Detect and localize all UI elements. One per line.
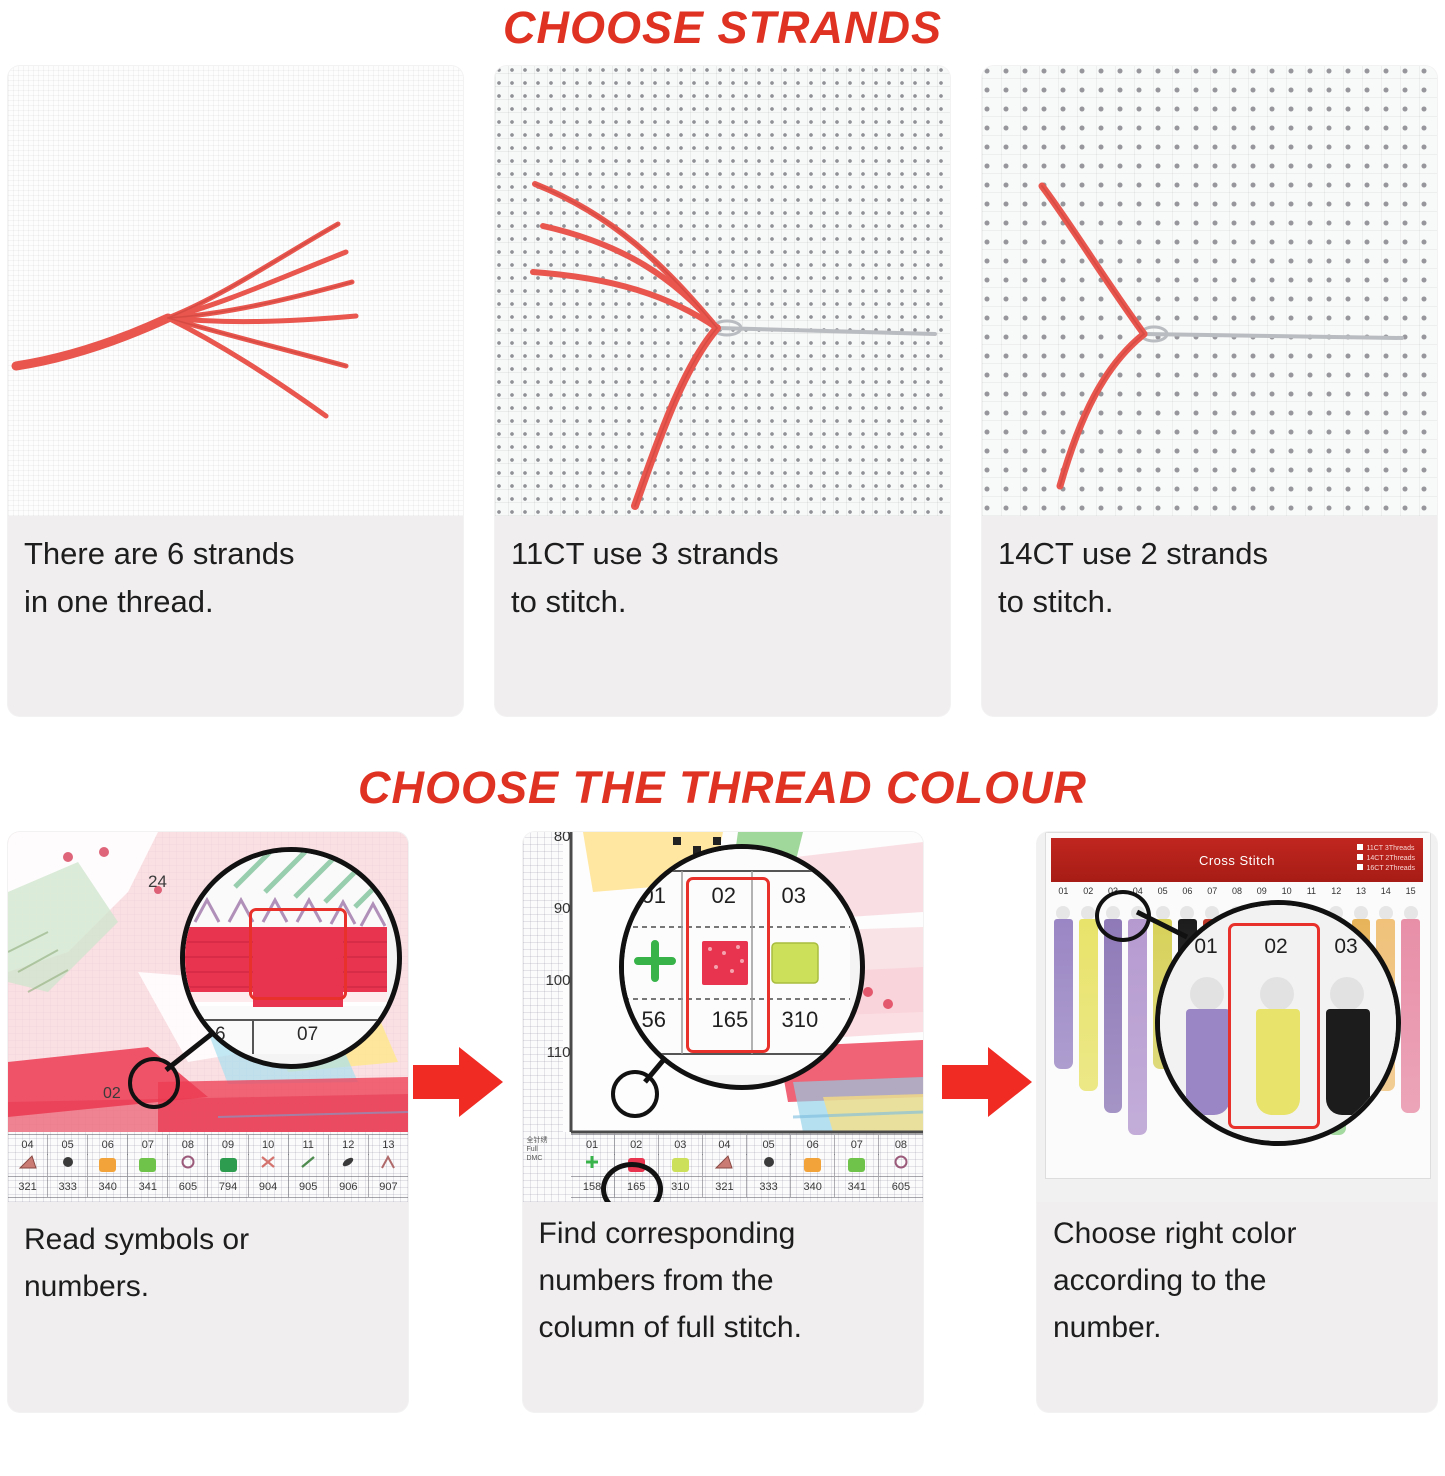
legend-symbol-cell bbox=[249, 1154, 289, 1176]
choose-color-caption: Choose right color according to the numb… bbox=[1037, 1202, 1437, 1361]
legend-dmc-number: 310 bbox=[659, 1177, 703, 1197]
11ct-needle-thread-illustration bbox=[495, 66, 950, 516]
legend-symbol-cell bbox=[88, 1154, 128, 1176]
caption-line: according to the bbox=[1053, 1257, 1421, 1304]
legend-symbol-cell bbox=[8, 1154, 48, 1176]
legend-column-index: 07 bbox=[835, 1135, 879, 1155]
legend-dmc-number: 340 bbox=[791, 1177, 835, 1197]
panel-read-symbols: 24 02 bbox=[8, 832, 408, 1412]
legend-dmc-number: 906 bbox=[329, 1177, 369, 1197]
caption-line: Choose right color bbox=[1053, 1210, 1421, 1257]
legend-symbol-cell bbox=[329, 1154, 369, 1176]
legend-symbol-cell bbox=[703, 1154, 747, 1176]
legend-dmc-number: 340 bbox=[88, 1177, 128, 1197]
legend-column-index: 04 bbox=[8, 1135, 48, 1155]
magnified-skein[interactable] bbox=[1326, 1009, 1370, 1115]
legend-symbol-cell bbox=[48, 1154, 88, 1176]
legend-column-index: 05 bbox=[48, 1135, 88, 1155]
legend-symbol-cell bbox=[369, 1154, 408, 1176]
caption-line: to stitch. bbox=[998, 578, 1421, 626]
read-symbols-caption: Read symbols or numbers. bbox=[8, 1202, 408, 1320]
caption-line: Read symbols or bbox=[24, 1216, 392, 1263]
magnified-highlight-box bbox=[1228, 923, 1320, 1129]
caption-line: 11CT use 3 strands bbox=[511, 530, 934, 578]
11ct-image bbox=[495, 66, 950, 516]
legend-column-index: 08 bbox=[168, 1135, 208, 1155]
read-symbols-chart-image: 24 02 bbox=[8, 832, 408, 1202]
legend-symbol-cell bbox=[128, 1154, 168, 1176]
caption-line: 14CT use 2 strands bbox=[998, 530, 1421, 578]
legend-symbol-cell bbox=[168, 1154, 208, 1176]
legend-column-index: 04 bbox=[703, 1135, 747, 1155]
legend-column-index: 01 bbox=[571, 1135, 615, 1155]
caption-line: number. bbox=[1053, 1304, 1421, 1351]
legend-dmc-number: 905 bbox=[289, 1177, 329, 1197]
legend-symbol-cell bbox=[835, 1154, 879, 1176]
legend-column-header-row: 04050607080910111213 bbox=[8, 1134, 408, 1155]
legend-column-index: 06 bbox=[88, 1135, 128, 1155]
magnifier-lens: 010203 56165310 bbox=[619, 844, 865, 1090]
legend-symbol-cell bbox=[659, 1154, 703, 1176]
legend-column-index: 06 bbox=[791, 1135, 835, 1155]
caption-line: numbers. bbox=[24, 1263, 392, 1310]
legend-symbol-cell bbox=[747, 1154, 791, 1176]
magnified-dmc-number: 310 bbox=[782, 1007, 819, 1033]
magnified-slot-notch bbox=[1190, 977, 1224, 1011]
legend-column-index: 08 bbox=[879, 1135, 922, 1155]
legend-column-index: 10 bbox=[249, 1135, 289, 1155]
find-numbers-caption: Find corresponding numbers from the colu… bbox=[523, 1202, 923, 1361]
arrow-2-icon bbox=[942, 1043, 1034, 1121]
six-strands-image bbox=[8, 66, 463, 516]
legend-dmc-number: 605 bbox=[168, 1177, 208, 1197]
magnified-label-right: 07 bbox=[297, 1024, 318, 1046]
legend-dmc-number: 341 bbox=[835, 1177, 879, 1197]
legend-column-index: 11 bbox=[289, 1135, 329, 1155]
legend-dmc-number: 904 bbox=[249, 1177, 289, 1197]
caption-line: to stitch. bbox=[511, 578, 934, 626]
legend-column-index: 12 bbox=[329, 1135, 369, 1155]
section-title-choose-thread-colour: CHOOSE THE THREAD COLOUR bbox=[0, 756, 1445, 814]
magnified-slot-notch bbox=[1330, 977, 1364, 1011]
caption-line: in one thread. bbox=[24, 578, 447, 626]
legend-symbol-cell bbox=[289, 1154, 329, 1176]
magnified-slot-label: 01 bbox=[1186, 935, 1226, 959]
legend-symbol-cell bbox=[879, 1154, 922, 1176]
magnified-label-left: 6 bbox=[215, 1024, 226, 1046]
legend-dmc-number: 321 bbox=[8, 1177, 48, 1197]
legend-symbol-cell bbox=[791, 1154, 835, 1176]
legend-column-index: 05 bbox=[747, 1135, 791, 1155]
legend-column-index: 07 bbox=[128, 1135, 168, 1155]
arrow-1-icon bbox=[413, 1043, 505, 1121]
magnified-highlight-box bbox=[249, 908, 347, 1000]
14ct-caption: 14CT use 2 strands to stitch. bbox=[982, 516, 1437, 636]
legend-dmc-number: 907 bbox=[369, 1177, 408, 1197]
panel-find-numbers: 8090100110 bbox=[523, 832, 923, 1412]
panel-six-strands: There are 6 strands in one thread. bbox=[8, 66, 463, 716]
14ct-needle-thread-illustration bbox=[982, 66, 1437, 516]
legend-dmc-number: 321 bbox=[703, 1177, 747, 1197]
14ct-image bbox=[982, 66, 1437, 516]
11ct-caption: 11CT use 3 strands to stitch. bbox=[495, 516, 950, 636]
magnified-dmc-number: 165 bbox=[712, 1007, 749, 1033]
strands-panel-row: There are 6 strands in one thread. bbox=[0, 66, 1445, 716]
six-strands-caption: There are 6 strands in one thread. bbox=[8, 516, 463, 636]
legend-dmc-number: 605 bbox=[879, 1177, 922, 1197]
find-numbers-chart-image: 8090100110 bbox=[523, 832, 923, 1202]
legend-column-index: 03 bbox=[659, 1135, 703, 1155]
legend-dmc-number: 333 bbox=[747, 1177, 791, 1197]
legend-symbol-cell bbox=[208, 1154, 248, 1176]
magnified-column-label: 03 bbox=[782, 883, 806, 909]
legend-number-row: 321333340341605794904905906907 bbox=[8, 1176, 408, 1198]
caption-line: Find corresponding bbox=[539, 1210, 907, 1257]
legend-row-caption: 全针绣FullDMC bbox=[527, 1136, 548, 1163]
magnified-column-label: 02 bbox=[712, 883, 736, 909]
magnified-dmc-number: 56 bbox=[642, 1007, 666, 1033]
magnified-column-label: 01 bbox=[642, 883, 666, 909]
magnified-slot-label: 03 bbox=[1326, 935, 1366, 959]
caption-line: numbers from the bbox=[539, 1257, 907, 1304]
magnifier-lens: 010203 bbox=[1155, 900, 1401, 1146]
colour-panel-row: 24 02 bbox=[0, 832, 1445, 1412]
legend-dmc-number: 341 bbox=[128, 1177, 168, 1197]
legend-column-index: 09 bbox=[208, 1135, 248, 1155]
section-title-choose-strands: CHOOSE STRANDS bbox=[0, 0, 1445, 54]
panel-choose-color: Cross Stitch 11CT 3Threads 14CT 2Threads… bbox=[1037, 832, 1437, 1412]
legend-column-header-row: 0102030405060708 bbox=[571, 1134, 923, 1155]
panel-11ct-three-strands: 11CT use 3 strands to stitch. bbox=[495, 66, 950, 716]
magnified-skein[interactable] bbox=[1186, 1009, 1230, 1115]
thread-card-image: Cross Stitch 11CT 3Threads 14CT 2Threads… bbox=[1037, 832, 1437, 1202]
six-strand-thread-illustration bbox=[8, 66, 463, 516]
magnifier-lens: 6 07 bbox=[180, 847, 402, 1069]
legend-symbol-row bbox=[8, 1154, 408, 1176]
legend-dmc-number: 794 bbox=[208, 1177, 248, 1197]
caption-line: There are 6 strands bbox=[24, 530, 447, 578]
panel-14ct-two-strands: 14CT use 2 strands to stitch. bbox=[982, 66, 1437, 716]
legend-column-index: 13 bbox=[369, 1135, 408, 1155]
legend-column-index: 02 bbox=[615, 1135, 659, 1155]
caption-line: column of full stitch. bbox=[539, 1304, 907, 1351]
legend-dmc-number: 333 bbox=[48, 1177, 88, 1197]
